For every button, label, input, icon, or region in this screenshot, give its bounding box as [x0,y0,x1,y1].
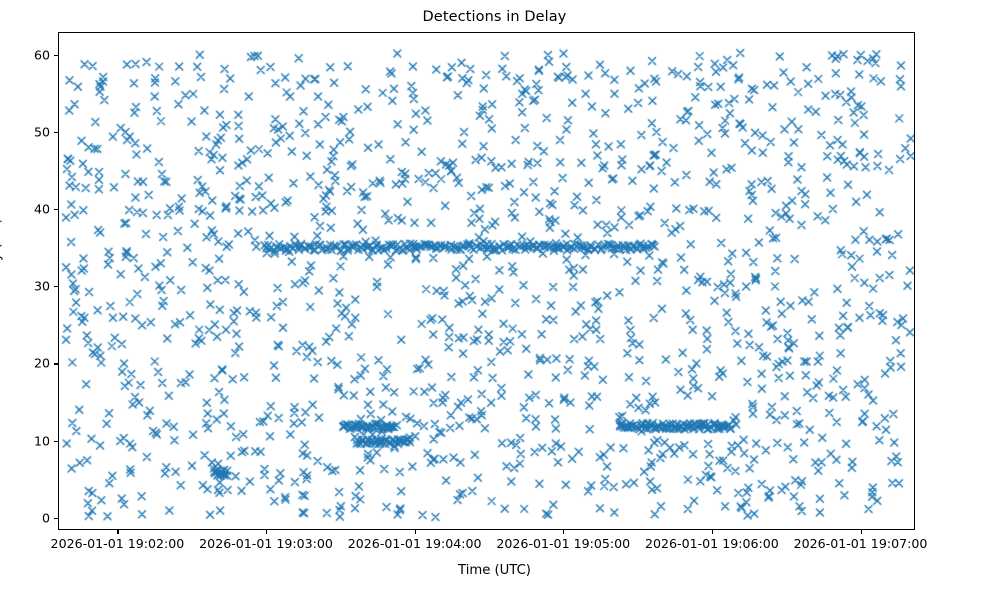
y-tick-label: 0 [4,510,50,525]
x-tick-label: 2026-01-01 19:04:00 [348,536,482,551]
scatter-points-layer [59,33,915,530]
x-tick-mark [415,530,416,534]
x-tick-label: 2026-01-01 19:05:00 [496,536,630,551]
y-tick-mark [54,286,58,287]
x-tick-mark [266,530,267,534]
y-tick-label: 30 [4,279,50,294]
x-tick-label: 2026-01-01 19:02:00 [51,536,185,551]
y-tick-label: 40 [4,202,50,217]
y-tick-mark [54,209,58,210]
x-tick-label: 2026-01-01 19:07:00 [794,536,928,551]
chart-title: Detections in Delay [0,9,989,25]
x-tick-mark [861,530,862,534]
y-tick-mark [54,132,58,133]
x-tick-mark [563,530,564,534]
x-tick-label: 2026-01-01 19:06:00 [645,536,779,551]
x-axis-label: Time (UTC) [0,563,989,578]
x-tick-label: 2026-01-01 19:03:00 [199,536,333,551]
y-tick-label: 60 [4,48,50,63]
y-tick-label: 20 [4,356,50,371]
y-tick-mark [54,518,58,519]
y-tick-label: 10 [4,433,50,448]
y-tick-mark [54,441,58,442]
x-tick-mark [712,530,713,534]
y-axis-label: Bistatic Delay (km) [0,218,4,344]
y-tick-label: 50 [4,125,50,140]
plot-axes-area [58,32,915,530]
x-tick-mark [117,530,118,534]
y-tick-mark [54,363,58,364]
matplotlib-figure: Detections in Delay 0102030405060 2026-0… [0,0,989,590]
y-tick-mark [54,55,58,56]
